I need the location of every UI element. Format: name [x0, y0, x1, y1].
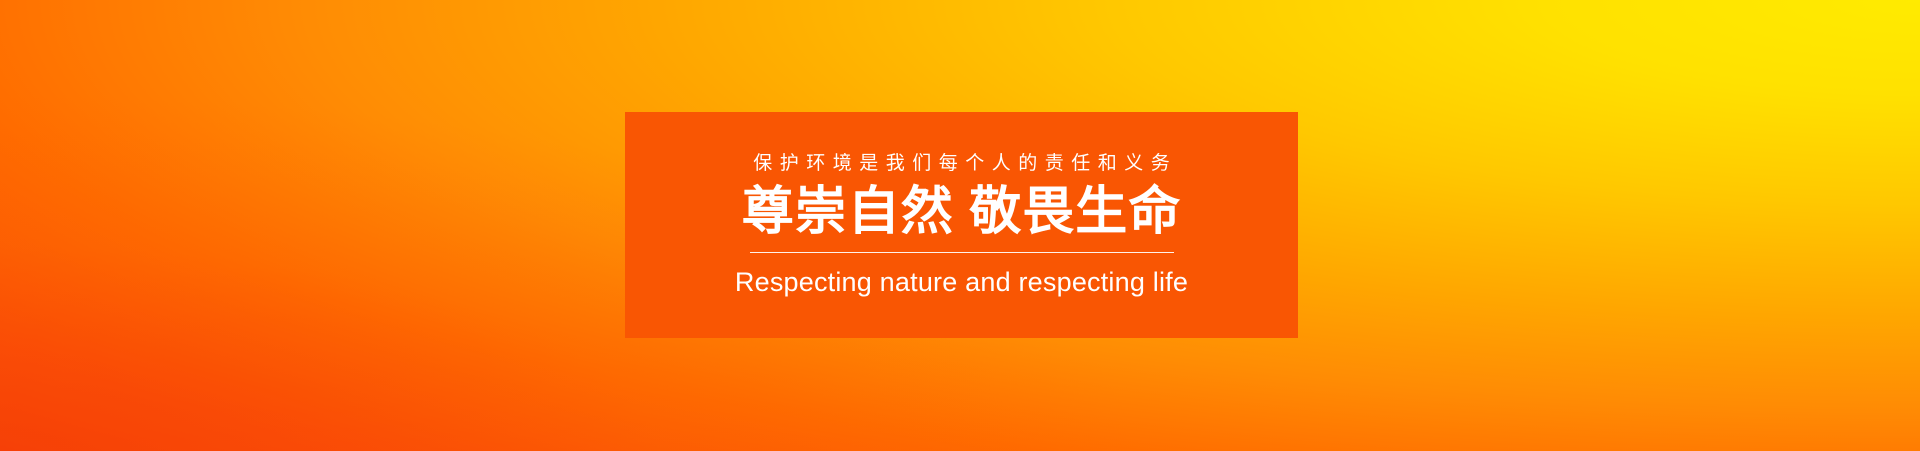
plaque-subline-text: Respecting nature and respecting life — [735, 269, 1188, 296]
promo-banner: 保护环境是我们每个人的责任和义务 尊崇自然 敬畏生命 Respecting na… — [0, 0, 1920, 451]
plaque-headline-text: 尊崇自然 敬畏生命 — [742, 186, 1181, 238]
plaque-eyebrow-text: 保护环境是我们每个人的责任和义务 — [746, 154, 1178, 173]
plaque-divider — [750, 252, 1174, 253]
slogan-plaque: 保护环境是我们每个人的责任和义务 尊崇自然 敬畏生命 Respecting na… — [625, 112, 1298, 338]
